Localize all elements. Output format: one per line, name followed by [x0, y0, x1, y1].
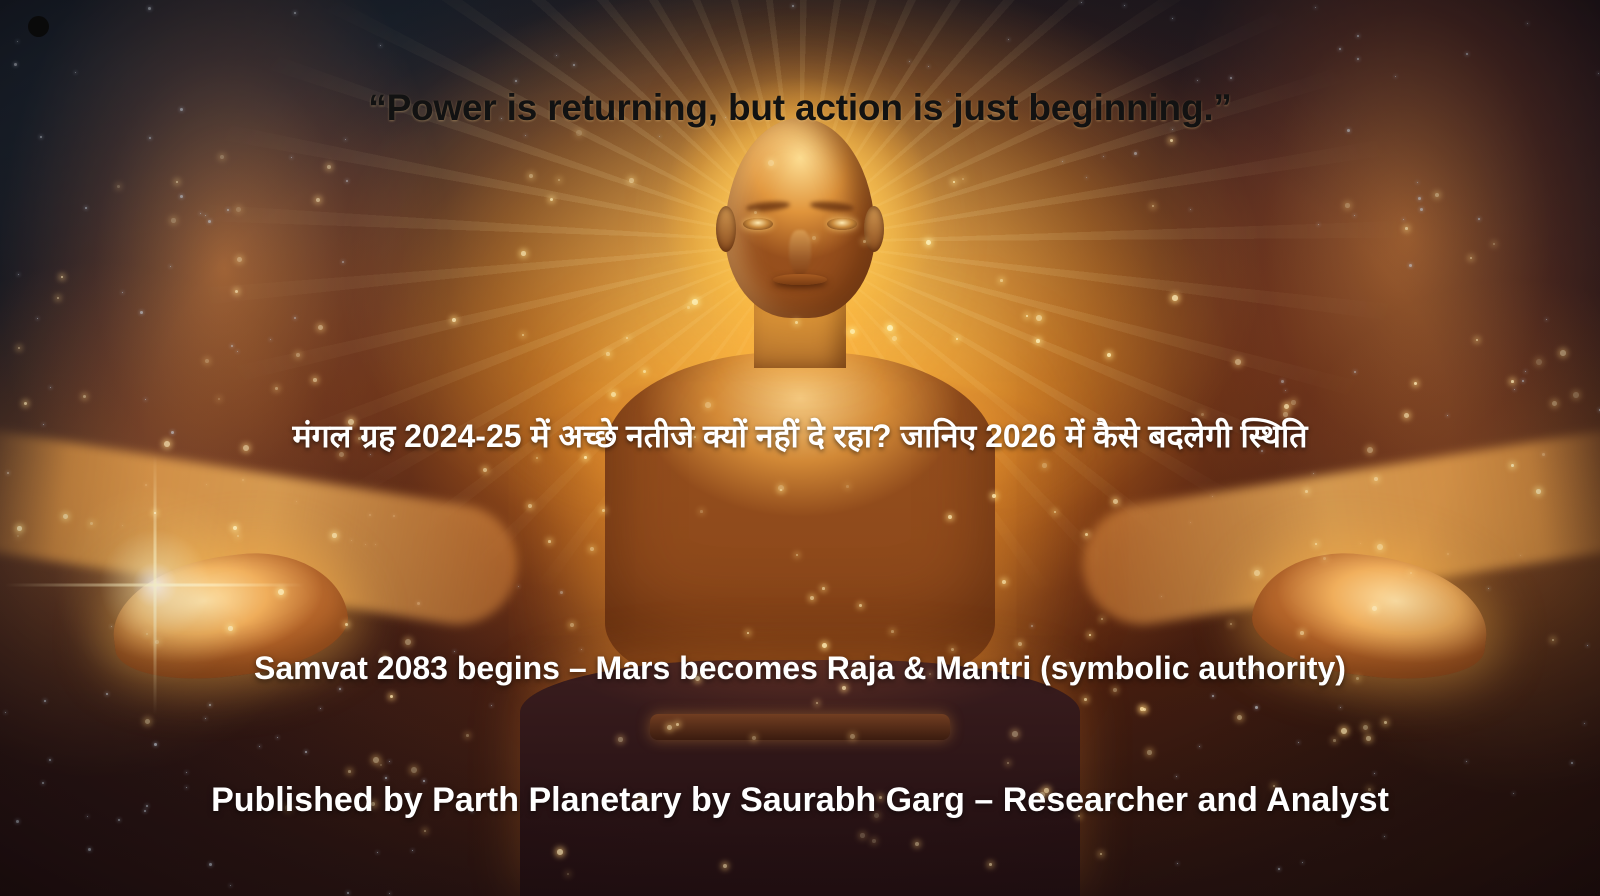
samvat-line: Samvat 2083 begins – Mars becomes Raja &…	[60, 650, 1540, 688]
figure-brow-left	[746, 200, 791, 213]
figure-ear-left	[716, 206, 736, 252]
figure-nose	[789, 230, 811, 276]
headline-quote: “Power is returning, but action is just …	[0, 86, 1600, 130]
figure-torso	[605, 352, 995, 682]
figure-belt	[650, 714, 950, 740]
bullet-item-text: Visvavasu Samvatsara (2026–27) — ruled b…	[96, 0, 1504, 85]
figure-eye-right	[827, 218, 857, 230]
figure-eye-left	[743, 218, 773, 230]
published-by-line: Published by Parth Planetary by Saurabh …	[60, 780, 1540, 820]
bullet-list-item: Visvavasu Samvatsara (2026–27) — ruled b…	[0, 0, 1600, 85]
figure-robe	[520, 660, 1080, 896]
figure-ear-right	[864, 206, 884, 252]
figure-brow-right	[810, 200, 855, 213]
poster-canvas: “Power is returning, but action is just …	[0, 0, 1600, 896]
hindi-headline: मंगल ग्रह 2024-25 में अच्छे नतीजे क्यों …	[40, 418, 1560, 456]
figure-mouth	[773, 274, 827, 285]
bullet-dot-icon	[28, 16, 49, 37]
figure-head	[725, 118, 875, 318]
